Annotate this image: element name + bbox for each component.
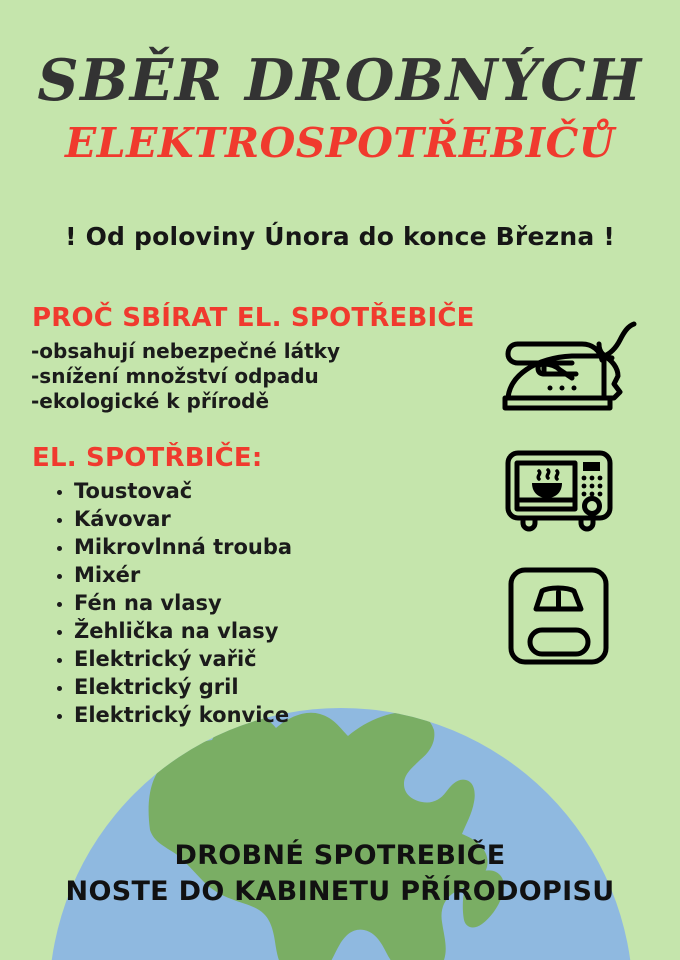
- title-line-1: SBĚR DROBNÝCH: [0, 52, 680, 109]
- list-item: Elektrický vařič: [74, 645, 292, 673]
- poster-title-block: SBĚR DROBNÝCH ELEKTROSPOTŘEBIČŮ: [0, 52, 680, 164]
- globe-landmass: [149, 712, 488, 960]
- list-item: Mixér: [74, 561, 292, 589]
- appliance-list: Toustovač Kávovar Mikrovlnná trouba Mixé…: [52, 477, 292, 729]
- scale-icon: [505, 562, 615, 675]
- poster-canvas: SBĚR DROBNÝCH ELEKTROSPOTŘEBIČŮ ! Od pol…: [0, 0, 680, 960]
- globe-ocean: [49, 708, 633, 960]
- section-heading-appliances: EL. SPOTŘBIČE:: [32, 443, 262, 473]
- why-collect-list: -obsahují nebezpečné látky -snížení množ…: [31, 339, 340, 414]
- list-item: Elektrický konvice: [74, 701, 292, 729]
- list-item: -snížení množství odpadu: [31, 364, 340, 389]
- microwave-icon: [503, 443, 615, 540]
- section-heading-why: PROČ SBÍRAT EL. SPOTŘEBIČE: [32, 303, 475, 333]
- list-item: Mikrovlnná trouba: [74, 533, 292, 561]
- list-item: Žehlička na vlasy: [74, 617, 292, 645]
- footer-line-1: DROBNÉ SPOTREBIČE: [0, 838, 680, 874]
- list-item: -ekologické k přírodě: [31, 389, 340, 414]
- title-line-2: ELEKTROSPOTŘEBIČŮ: [0, 123, 680, 164]
- footer-instruction: DROBNÉ SPOTREBIČE NOSTE DO KABINETU PŘÍR…: [0, 838, 680, 910]
- list-item: Elektrický gril: [74, 673, 292, 701]
- footer-line-2: NOSTE DO KABINETU PŘÍRODOPISU: [0, 874, 680, 910]
- list-item: Kávovar: [74, 505, 292, 533]
- list-item: Toustovač: [74, 477, 292, 505]
- iron-icon: [500, 318, 660, 423]
- list-item: -obsahují nebezpečné látky: [31, 339, 340, 364]
- list-item: Fén na vlasy: [74, 589, 292, 617]
- date-notice: ! Od poloviny Února do konce Března !: [0, 222, 680, 251]
